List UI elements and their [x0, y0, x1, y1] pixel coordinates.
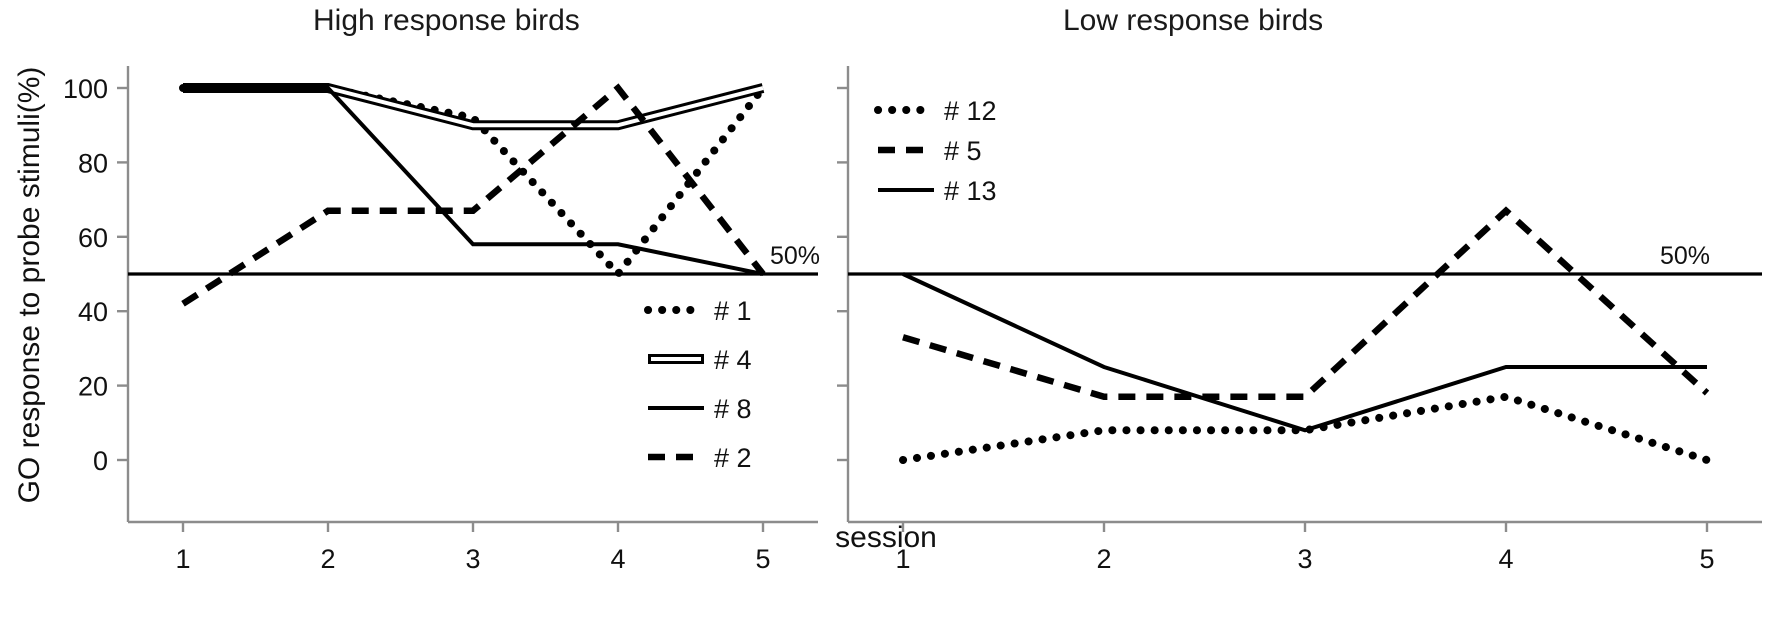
y-tick-label: 60: [78, 223, 108, 253]
left-panel-legend: # 1# 4# 8# 2: [648, 296, 752, 473]
right-panel-legend: # 12# 5# 13: [878, 96, 997, 206]
y-tick-label: 80: [78, 148, 108, 178]
legend-label-13: # 13: [944, 176, 997, 206]
legend-label-5: # 5: [944, 136, 982, 166]
legend-label-4: # 4: [714, 345, 752, 375]
y-tick-label: 40: [78, 297, 108, 327]
left-panel-series: [183, 88, 763, 304]
left-panel-axes: 0204060801001234550%: [63, 66, 820, 574]
x-tick-label: 2: [320, 544, 335, 574]
x-tick-label: 4: [610, 544, 625, 574]
y-tick-label: 100: [63, 74, 108, 104]
y-tick-label: 0: [93, 446, 108, 476]
y-tick-label: 20: [78, 372, 108, 402]
x-tick-label: 1: [895, 544, 910, 574]
x-tick-label: 3: [465, 544, 480, 574]
chart-svg: 0204060801001234550% # 1# 4# 8# 2 123455…: [0, 0, 1772, 637]
figure-container: High response birds Low response birds G…: [0, 0, 1772, 637]
x-tick-label: 1: [175, 544, 190, 574]
legend-label-1: # 1: [714, 296, 752, 326]
reference-line-label: 50%: [770, 242, 820, 270]
x-tick-label: 5: [1699, 544, 1714, 574]
x-tick-label: 4: [1498, 544, 1513, 574]
x-tick-label: 2: [1096, 544, 1111, 574]
legend-label-8: # 8: [714, 394, 752, 424]
series-line-13: [903, 274, 1707, 430]
reference-line-label: 50%: [1660, 242, 1710, 270]
x-tick-label: 5: [755, 544, 770, 574]
legend-label-12: # 12: [944, 96, 997, 126]
series-line-8: [183, 88, 763, 274]
legend-label-2: # 2: [714, 443, 752, 473]
x-tick-label: 3: [1297, 544, 1312, 574]
right-panel-series: [903, 211, 1707, 460]
